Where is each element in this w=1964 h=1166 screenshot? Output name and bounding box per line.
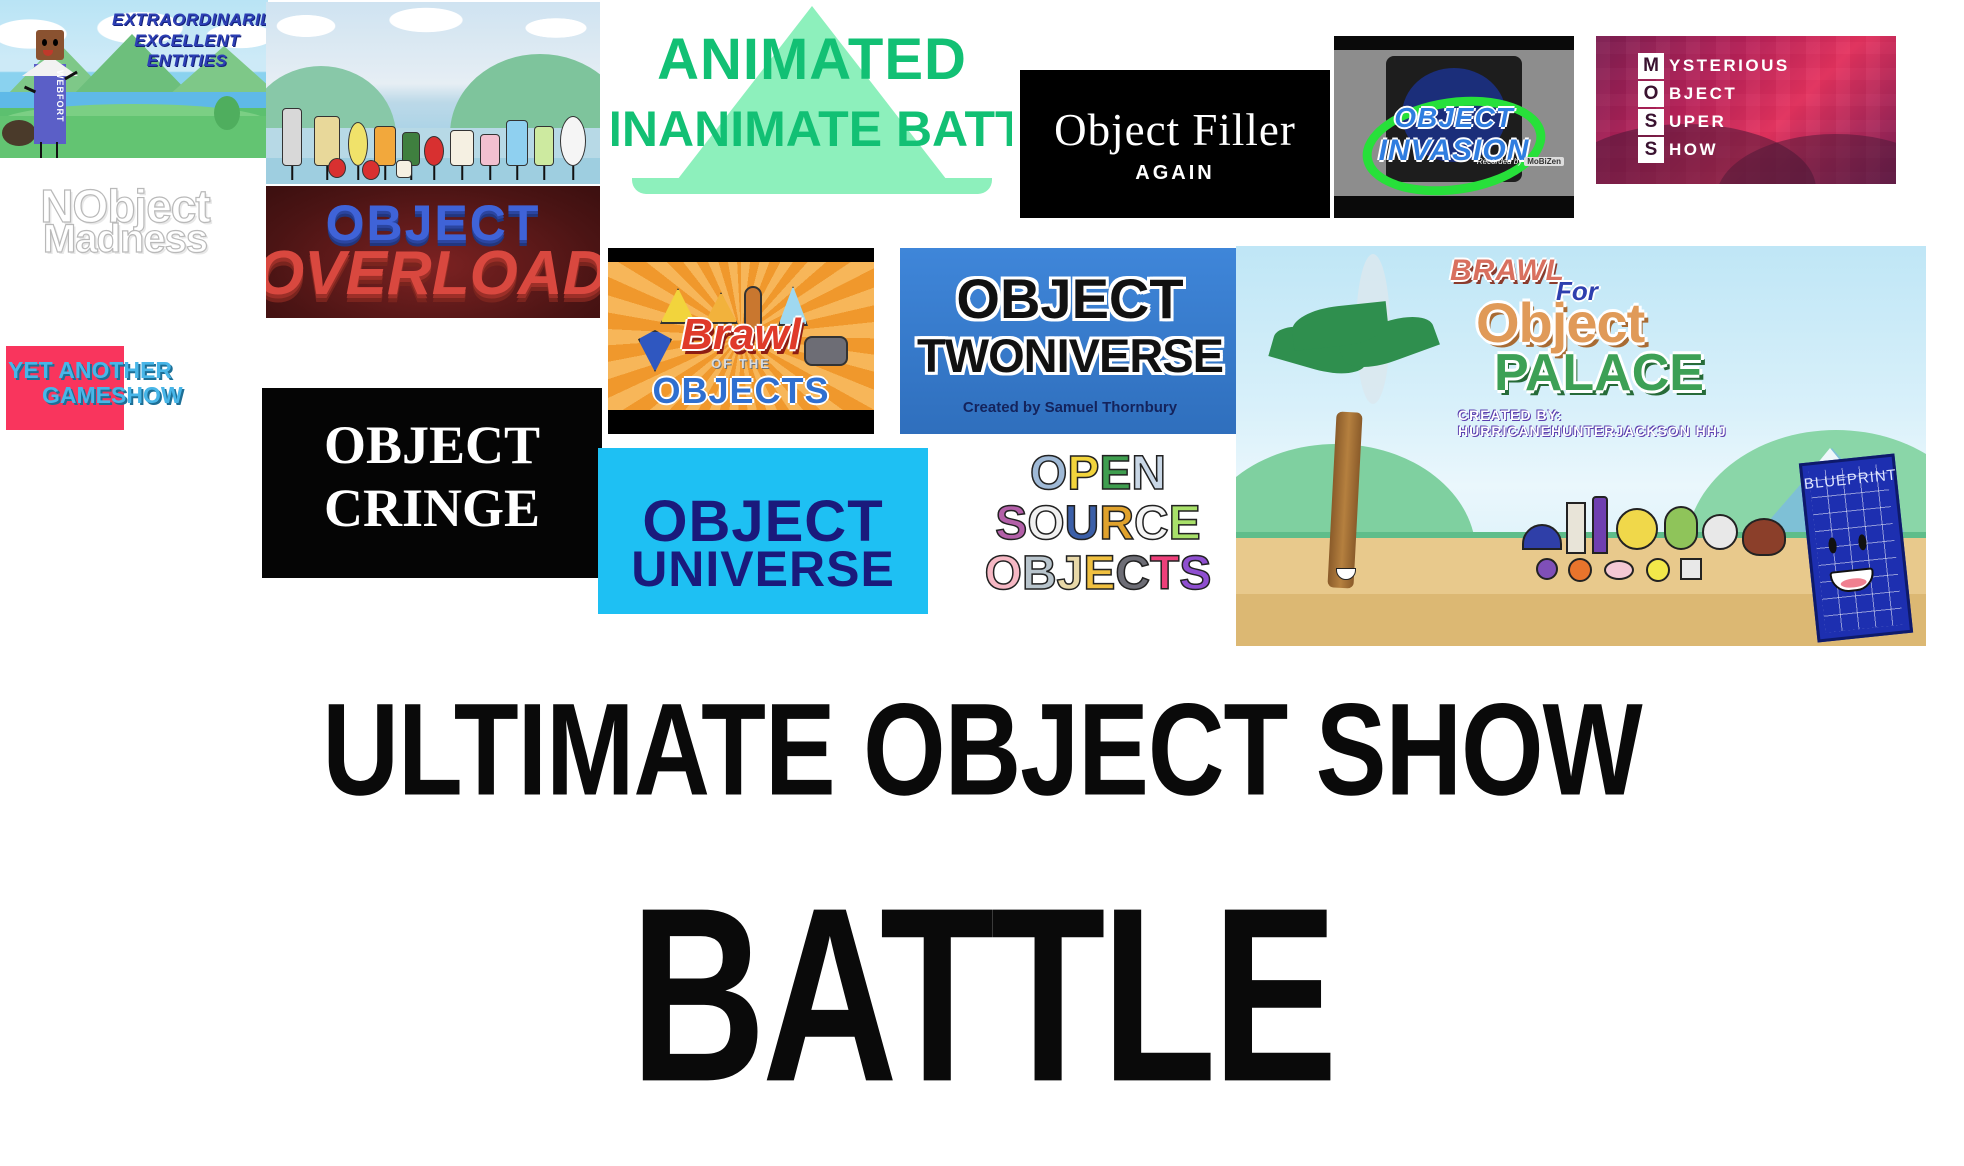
show-title: EXTRAORDINARILY EXCELLENT ENTITIES [112, 10, 262, 72]
character [1566, 502, 1586, 554]
blueprint-character: BLUEPRINT [1799, 453, 1913, 642]
title-line-1: BRAWL [1450, 254, 1750, 288]
leg-shape [56, 142, 58, 158]
acronym-rest: BJECT [1669, 84, 1737, 104]
title-line-4: PALACE [1494, 343, 1750, 403]
watermark-name: MoBiZen [1524, 157, 1564, 166]
title-line-1: ANIMATED [612, 26, 1012, 93]
poster-canvas: WEBFORT EXTRAORDINARILY EXCELLENT ENTITI… [0, 0, 1964, 1166]
title-line-2: Madness [43, 217, 207, 262]
character [480, 134, 500, 166]
title-line-3: OBJECTS [608, 370, 874, 412]
character [396, 160, 412, 178]
title-line-1: Object Filler [1020, 104, 1330, 156]
collage-letter: J [1057, 550, 1084, 598]
show-thumbnail-object-universe[interactable]: OBJECT UNIVERSE [598, 448, 928, 614]
leg-shape [40, 142, 42, 158]
show-title: NObject Madness [4, 166, 246, 274]
title-line-2: AGAIN [1020, 162, 1330, 185]
acronym-row: M YSTERIOUS [1638, 52, 1790, 80]
title-line-2: EXCELLENT [112, 31, 262, 52]
title-line-1: OBJECT [1334, 102, 1574, 134]
acronym-rest: YSTERIOUS [1669, 56, 1790, 76]
show-title: OBJECT CRINGE [262, 414, 602, 539]
page-title-main: ULTIMATE OBJECT SHOW [0, 676, 1964, 826]
eye-icon [53, 39, 58, 46]
acronym-row: S HOW [1638, 136, 1790, 164]
show-thumbnail-extraordinarily-excellent-entities[interactable]: WEBFORT EXTRAORDINARILY EXCELLENT ENTITI… [0, 0, 268, 158]
title-line-2: GAMESHOW [8, 383, 268, 408]
title-line-1: EXTRAORDINARILY [112, 10, 262, 31]
collage-letter: S [1179, 550, 1211, 598]
show-thumbnail-object-overload[interactable]: OBJECT OVERLOAD [266, 186, 600, 318]
character [1536, 558, 1558, 580]
show-thumbnail-object-invasion[interactable]: OBJECT INVASION Recorded byMoBiZen [1334, 36, 1574, 218]
watermark-prefix: Recorded by [1477, 157, 1522, 166]
show-thumbnail-animated-inanimate-battle-cast[interactable] [266, 2, 600, 184]
character [506, 120, 528, 166]
title-line-2: INANIMATE BATTLE [612, 100, 1012, 158]
acronym-rest: HOW [1669, 140, 1718, 160]
tongue-shape [1840, 577, 1867, 589]
recorder-watermark: Recorded byMoBiZen [1477, 157, 1564, 166]
collage-letter: R [1099, 500, 1134, 548]
collage-letter: O [985, 550, 1022, 598]
show-thumbnail-object-filler-again[interactable]: Object Filler AGAIN [1020, 70, 1330, 218]
acronym-rows: M YSTERIOUS O BJECT S UPER S HOW [1638, 52, 1790, 164]
clouds [266, 2, 600, 54]
character [1664, 506, 1698, 550]
title-line-1: OBJECT [262, 414, 602, 477]
show-thumbnail-animated-inanimate-battle[interactable]: ANIMATED INANIMATE BATTLE [612, 0, 1012, 226]
title-line-2: SOURCE [972, 500, 1224, 548]
show-thumbnail-brawl-for-object-palace[interactable]: BRAWL For Object PALACE CREATED BY: HURR… [1236, 246, 1926, 646]
title-line-2: TWONIVERSE [900, 328, 1240, 383]
show-thumbnail-object-cringe[interactable]: OBJECT CRINGE [262, 388, 602, 578]
character [1702, 514, 1738, 550]
title-line-1: YET ANOTHER [8, 358, 268, 383]
collage-letter: B [1022, 550, 1057, 598]
acronym-row: O BJECT [1638, 80, 1790, 108]
show-thumbnail-brawl-of-the-objects[interactable]: Brawl OF THE OBJECTS [608, 248, 874, 434]
title-line-3: ENTITIES [112, 51, 262, 72]
title-line-2: For [1556, 276, 1598, 307]
show-title: BRAWL For Object PALACE CREATED BY: HURR… [1450, 254, 1750, 439]
character [450, 130, 474, 166]
character [1616, 508, 1658, 550]
title-line-2: OF THE [608, 356, 874, 371]
webfort-character: WEBFORT [22, 30, 78, 148]
character [362, 160, 380, 180]
collage-letter: C [1134, 500, 1169, 548]
page-title-sub: BATTLE [0, 852, 1964, 1137]
character [1568, 558, 1592, 582]
show-thumbnail-object-twoniverse[interactable]: OBJECT TWONIVERSE Created by Samuel Thor… [900, 248, 1240, 434]
show-thumbnail-mysterious-object-super-show[interactable]: M YSTERIOUS O BJECT S UPER S HOW [1596, 36, 1896, 184]
character [1680, 558, 1702, 580]
collage-letter: E [1169, 500, 1201, 548]
show-title-yet-another-gameshow: YET ANOTHER GAMESHOW [8, 358, 268, 409]
credit-line: Created by Samuel Thornbury [900, 399, 1240, 416]
character [1646, 558, 1670, 582]
character [282, 108, 302, 166]
title-line-1: OPEN [972, 450, 1224, 498]
collage-letter: E [1099, 450, 1131, 498]
character [424, 136, 444, 166]
character [1604, 560, 1634, 580]
credit-line: CREATED BY: HURRICANEHUNTERJACKSON HHJ [1458, 407, 1750, 439]
collage-letter: S [995, 500, 1027, 548]
collage-letter: N [1131, 450, 1166, 498]
acronym-row: S UPER [1638, 108, 1790, 136]
title-line-1: OBJECT [900, 266, 1240, 331]
bush-shape [214, 96, 240, 130]
show-thumbnail-open-source-objects[interactable]: OPEN SOURCE OBJECTS [972, 446, 1224, 618]
acronym-initial: O [1638, 81, 1664, 107]
show-thumbnail-no-object-madness[interactable]: NObject Madness [4, 166, 246, 274]
acronym-initial: S [1638, 137, 1664, 163]
acronym-initial: S [1638, 109, 1664, 135]
collage-letter: O [1027, 500, 1064, 548]
collage-letter: P [1067, 450, 1099, 498]
violin-character [1742, 518, 1786, 556]
collage-letter: U [1065, 500, 1100, 548]
character [328, 158, 346, 178]
acronym-rest: UPER [1669, 112, 1726, 132]
collage-letter: C [1115, 550, 1150, 598]
character [534, 126, 554, 166]
character [560, 116, 586, 166]
collage-letter: O [1030, 450, 1067, 498]
video-frame: OBJECT INVASION Recorded byMoBiZen [1334, 50, 1574, 196]
title-line-2: OVERLOAD [266, 238, 600, 309]
title-line-1: Brawl [608, 310, 874, 360]
title-line-2: CRINGE [262, 477, 602, 540]
collage-letter: E [1083, 550, 1115, 598]
character-label: WEBFORT [35, 70, 65, 123]
title-line-3: OBJECTS [972, 550, 1224, 598]
collage-letter: T [1150, 550, 1179, 598]
title-line-2: UNIVERSE [598, 540, 928, 598]
eye-icon [42, 39, 47, 46]
mountain-base-shape [632, 178, 992, 194]
character [1592, 496, 1608, 554]
acronym-initial: M [1638, 53, 1664, 79]
